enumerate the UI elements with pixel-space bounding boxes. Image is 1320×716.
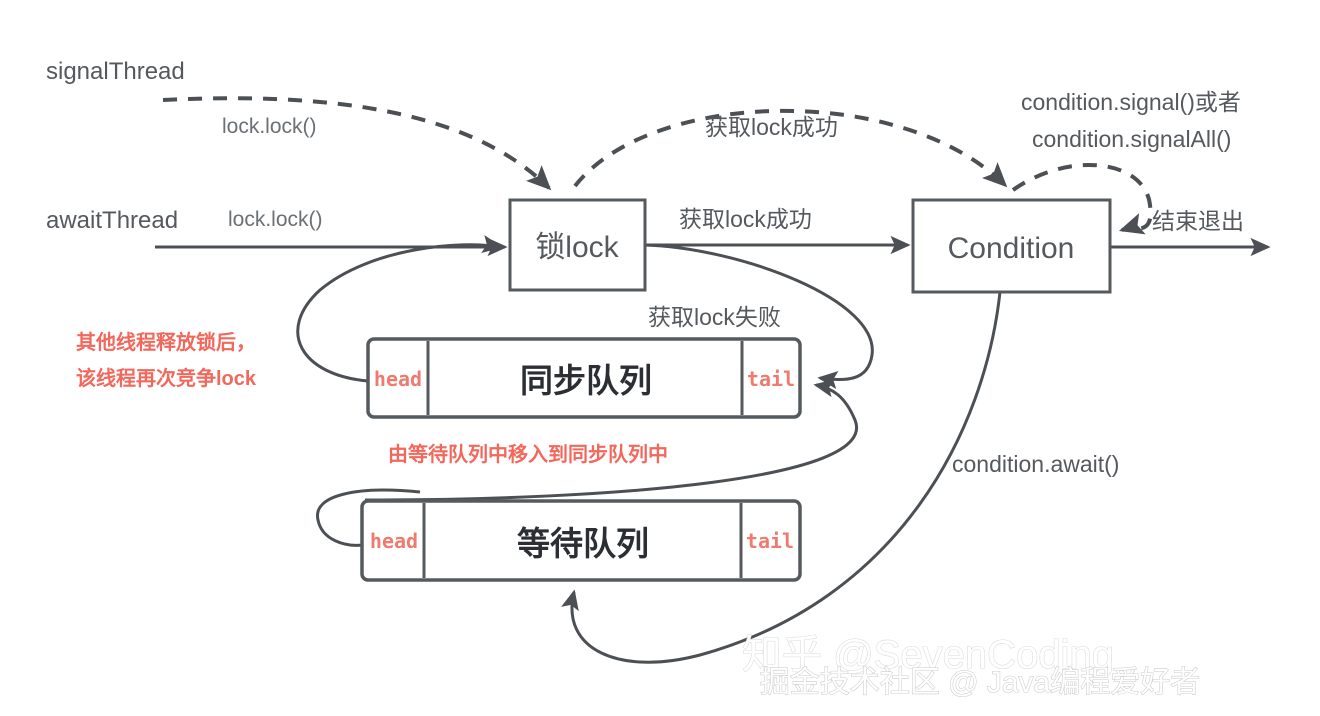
node-condition-label: Condition: [948, 232, 1075, 265]
annotation-recompete-line2: 该线程再次竞争lock: [76, 366, 257, 390]
label-await-lock-lock: lock.lock(): [228, 208, 323, 231]
label-condition-signal-line1: condition.signal()或者: [1021, 89, 1241, 115]
watermark-secondary: 掘金技术社区 @ Java编程爱好者: [760, 666, 1201, 699]
diagram-canvas: 锁lock Condition head tail 同步队列 head tail…: [0, 0, 1320, 716]
annotation-move-to-sync: 由等待队列中移入到同步队列中: [388, 442, 668, 466]
label-finish-exit: 结束退出: [1152, 208, 1244, 234]
annotation-recompete-line1: 其他线程释放锁后，: [76, 330, 256, 354]
label-condition-signal-line2: condition.signalAll(): [1032, 126, 1231, 152]
label-signal-lock-lock: lock.lock(): [222, 115, 317, 138]
label-acquire-fail: 获取lock失败: [648, 304, 781, 330]
label-acquire-success-dashed: 获取lock成功: [705, 114, 838, 140]
label-condition-await: condition.await(): [952, 451, 1119, 477]
sync-queue-head-label: head: [374, 367, 422, 391]
label-await-thread: awaitThread: [46, 207, 178, 234]
sync-queue-title: 同步队列: [520, 362, 652, 399]
wait-queue-head-label: head: [370, 529, 418, 553]
flow-diagram: 锁lock Condition head tail 同步队列 head tail…: [0, 0, 1320, 716]
node-lock-label: 锁lock: [535, 231, 619, 264]
wait-queue-title: 等待队列: [517, 525, 649, 562]
label-acquire-success-solid: 获取lock成功: [679, 206, 812, 232]
sync-queue-tail-label: tail: [747, 367, 795, 391]
label-signal-thread: signalThread: [46, 58, 185, 85]
edge-signalthread-to-lock: [163, 98, 549, 188]
wait-queue-tail-label: tail: [746, 529, 794, 553]
